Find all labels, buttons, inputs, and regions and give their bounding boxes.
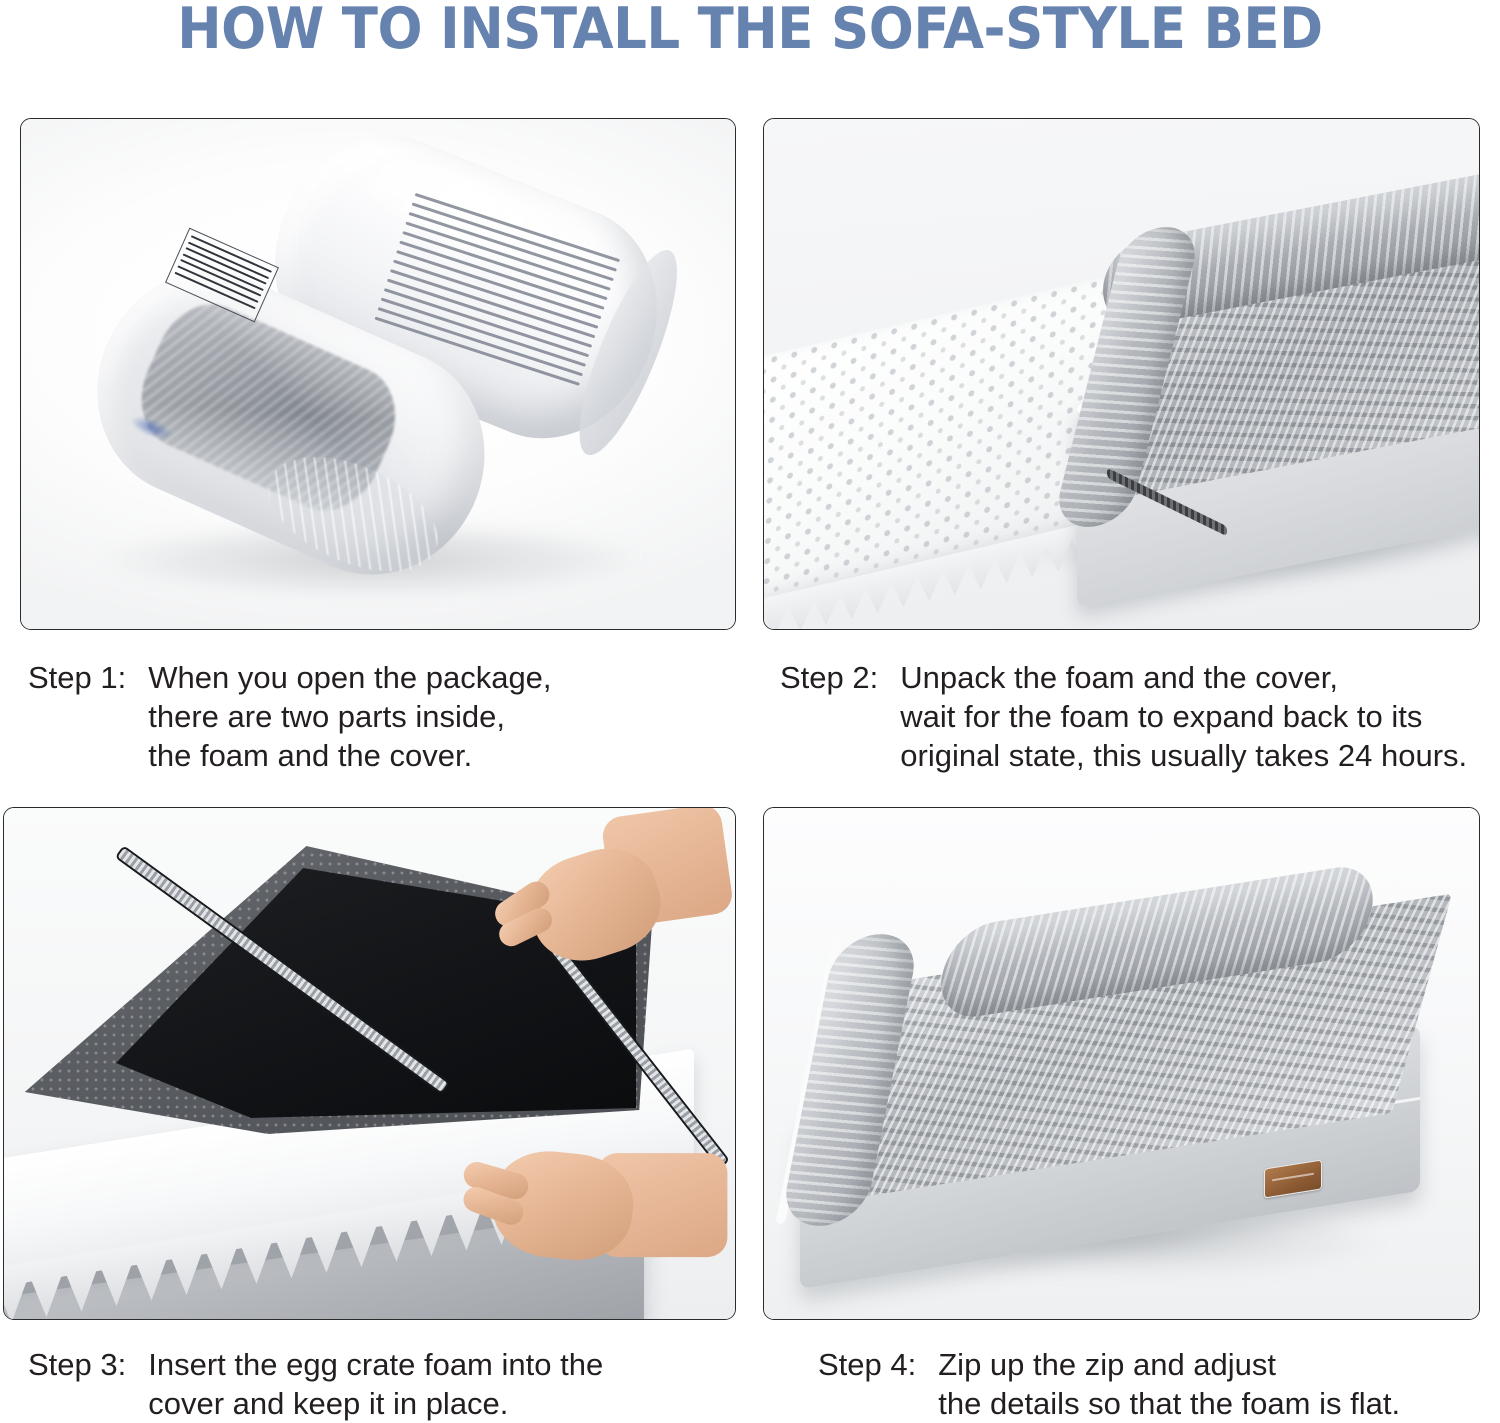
step-3-text: Insert the egg crate foam into the cover…: [148, 1345, 603, 1423]
finished-bed-illustration: [764, 808, 1479, 1319]
inserting-foam-illustration: [4, 808, 735, 1319]
sofa-style-bed: [1059, 197, 1480, 597]
step-3-image-panel: [3, 807, 736, 1320]
step-3-label: Step 3:: [28, 1345, 126, 1384]
step-1-label: Step 1:: [28, 658, 126, 697]
step-4-caption: Step 4: Zip up the zip and adjust the de…: [818, 1345, 1400, 1423]
step-2-label: Step 2:: [780, 658, 878, 697]
step-1-caption: Step 1: When you open the package, there…: [28, 658, 552, 775]
step-2-text: Unpack the foam and the cover, wait for …: [900, 658, 1467, 775]
finished-sofa-style-bed: [794, 878, 1454, 1278]
step-4-label: Step 4:: [818, 1345, 916, 1384]
step-4-image-panel: [763, 807, 1480, 1320]
page-title: HOW TO INSTALL THE SOFA-STYLE BED: [53, 0, 1448, 62]
step-1-text: When you open the package, there are two…: [148, 658, 551, 775]
step-1-image-panel: [20, 118, 736, 630]
packaging-rolls-illustration: [21, 119, 735, 629]
hand-inserting-foam: [449, 1128, 664, 1298]
step-4-text: Zip up the zip and adjust the details so…: [938, 1345, 1400, 1423]
step-2-image-panel: [763, 118, 1480, 630]
step-2-caption: Step 2: Unpack the foam and the cover, w…: [780, 658, 1467, 775]
step-3-caption: Step 3: Insert the egg crate foam into t…: [28, 1345, 603, 1423]
foam-and-bed-illustration: [764, 119, 1479, 629]
